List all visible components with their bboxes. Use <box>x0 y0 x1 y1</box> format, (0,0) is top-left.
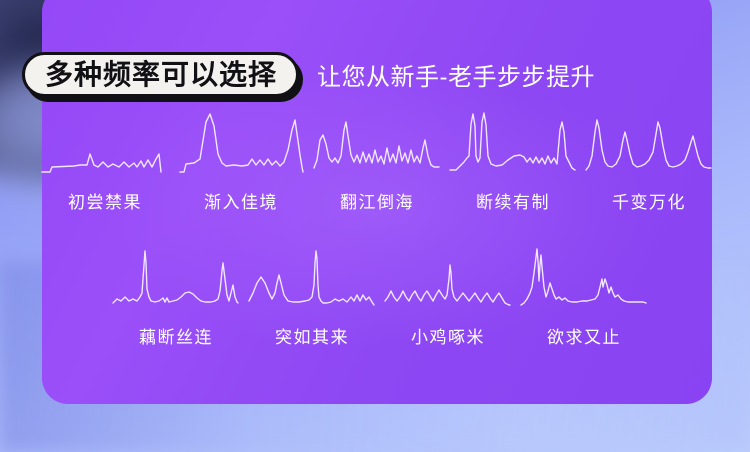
mode-row-1: 初尝禁果 渐入佳境 翻江倒海 <box>0 110 750 213</box>
mode-item[interactable]: 翻江倒海 <box>309 110 445 213</box>
mode-row-2: 藕断丝连 突如其来 小鸡啄米 <box>0 245 750 348</box>
waveform-path <box>385 265 510 305</box>
waveform-icon <box>519 245 649 319</box>
waveform-icon <box>383 245 513 319</box>
header: 多种频率可以选择 让您从新手-老手步步提升 <box>22 52 595 97</box>
mode-label: 翻江倒海 <box>340 188 414 213</box>
mode-label: 千变万化 <box>612 188 686 213</box>
waveform-icon <box>448 110 578 184</box>
waveform-icon <box>312 110 442 184</box>
mode-item[interactable]: 藕断丝连 <box>108 245 244 348</box>
waveform-path <box>249 251 374 305</box>
waveform-icon <box>176 110 306 184</box>
mode-label: 藕断丝连 <box>139 323 213 348</box>
mode-item[interactable]: 断续有制 <box>445 110 581 213</box>
waveform-path <box>521 249 646 305</box>
mode-grid: 初尝禁果 渐入佳境 翻江倒海 <box>0 110 750 348</box>
waveform-icon <box>247 245 377 319</box>
page-title-pill: 多种频率可以选择 <box>22 52 299 97</box>
page-subtitle: 让您从新手-老手步步提升 <box>317 57 595 92</box>
mode-item[interactable]: 渐入佳境 <box>173 110 309 213</box>
mode-label: 断续有制 <box>476 188 550 213</box>
waveform-path <box>586 120 711 170</box>
mode-label: 突如其来 <box>275 323 349 348</box>
mode-item[interactable]: 小鸡啄米 <box>380 245 516 348</box>
promo-banner: 多种频率可以选择 让您从新手-老手步步提升 初尝禁果 渐入佳境 <box>0 0 750 452</box>
mode-label: 渐入佳境 <box>204 188 278 213</box>
mode-item[interactable]: 突如其来 <box>244 245 380 348</box>
waveform-icon <box>40 110 170 184</box>
waveform-icon <box>111 245 241 319</box>
waveform-path <box>314 122 439 168</box>
waveform-path <box>42 154 161 172</box>
mode-label: 初尝禁果 <box>68 188 142 213</box>
waveform-path <box>180 114 303 172</box>
mode-label: 欲求又止 <box>547 323 621 348</box>
waveform-path <box>113 251 238 303</box>
mode-item[interactable]: 欲求又止 <box>516 245 652 348</box>
mode-label: 小鸡啄米 <box>411 323 485 348</box>
mode-item[interactable]: 千变万化 <box>581 110 717 213</box>
waveform-path <box>450 113 575 170</box>
page-title: 多种频率可以选择 <box>45 61 277 89</box>
waveform-icon <box>584 110 714 184</box>
mode-item[interactable]: 初尝禁果 <box>37 110 173 213</box>
